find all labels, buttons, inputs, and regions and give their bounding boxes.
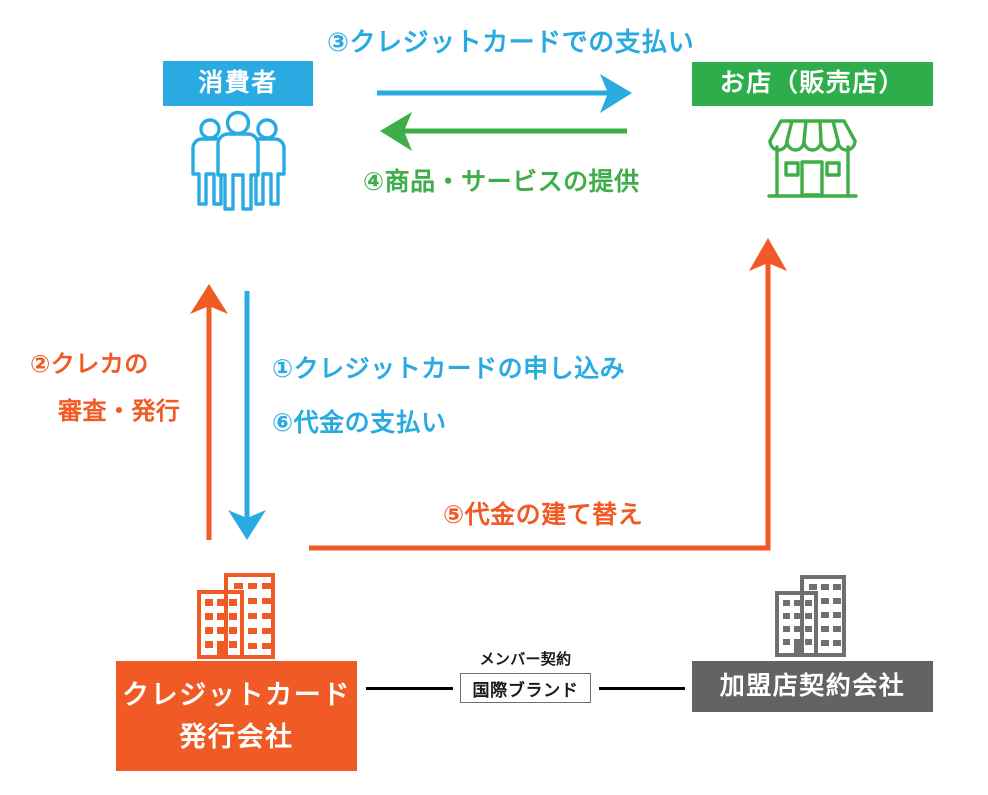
flow-label-3: ③クレジットカードでの支払い <box>327 22 694 62</box>
arrow-flow-4 <box>380 112 627 151</box>
flow-label-4: ④商品・サービスの提供 <box>363 163 640 202</box>
credit-card-flow-diagram: 消費者 お店（販売店） クレジットカード 発行会社 加盟店契約会社 メンバー契約… <box>0 0 988 795</box>
brand-chip-caption: メンバー契約 <box>460 648 591 669</box>
node-consumer[interactable]: 消費者 <box>163 61 313 106</box>
arrow-flow-3 <box>377 74 632 113</box>
flow-label-5: ⑤代金の建て替え <box>443 496 643 535</box>
node-shop[interactable]: お店（販売店） <box>692 62 933 106</box>
node-international-brand-label: 国際ブランド <box>472 676 578 701</box>
flow-label-2-line2: 審査・発行 <box>58 393 180 430</box>
arrow-flow-2 <box>190 284 228 540</box>
node-card-issuer[interactable]: クレジットカード 発行会社 <box>116 661 357 771</box>
node-international-brand[interactable]: 国際ブランド <box>460 673 591 703</box>
flow-label-2: ②クレカの 審査・発行 <box>30 346 180 430</box>
flow-label-2-line1: ②クレカの <box>30 351 149 378</box>
node-consumer-label: 消費者 <box>198 67 278 101</box>
node-acquirer-label: 加盟店契約会社 <box>720 670 906 704</box>
brand-connector-right <box>599 687 685 690</box>
node-card-issuer-label-line1: クレジットカード <box>122 677 351 713</box>
storefront-icon <box>769 121 856 196</box>
brand-connector-left <box>366 687 453 690</box>
node-shop-label: お店（販売店） <box>720 67 906 101</box>
arrow-flow-1-6 <box>228 291 266 540</box>
flow-label-6: ⑥代金の支払い <box>272 404 447 443</box>
three-people-icon <box>193 113 284 210</box>
office-buildings-icon-issuer <box>197 573 275 659</box>
node-card-issuer-label-line2: 発行会社 <box>179 719 293 755</box>
node-acquirer[interactable]: 加盟店契約会社 <box>692 661 933 712</box>
office-buildings-icon-acquirer <box>775 575 846 657</box>
flow-label-1: ①クレジットカードの申し込み <box>272 350 625 389</box>
